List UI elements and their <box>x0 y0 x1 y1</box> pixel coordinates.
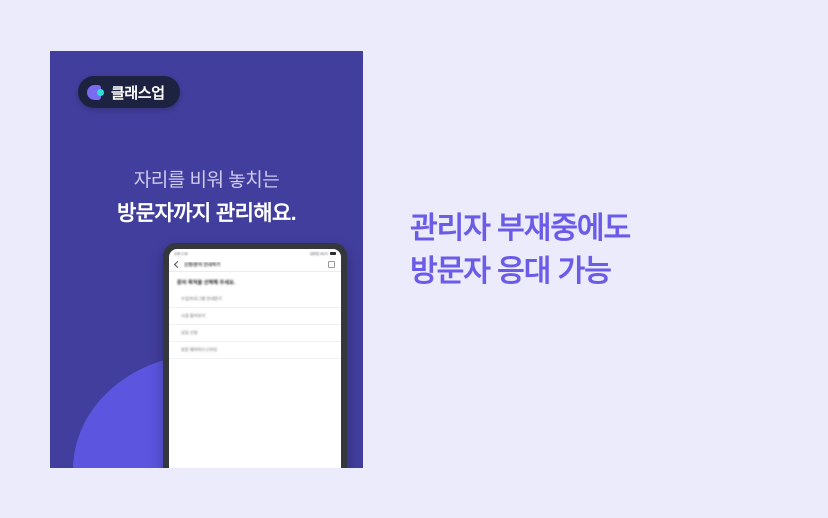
app-bar-title: 신청/문의 안내하기 <box>184 262 324 268</box>
right-copy-line1: 관리자 부재중에도 <box>410 208 790 251</box>
tablet-screen: 오후 2:35 내부망 Wi-Fi 신청/문의 안내하기 문의 목적을 선택해 … <box>169 249 341 468</box>
list-item[interactable]: 수업/프로그램 안내받기 <box>169 291 341 308</box>
right-copy-block: 관리자 부재중에도 방문자 응대 가능 <box>410 208 790 293</box>
brand-logo-pill: 클래스업 <box>78 76 180 108</box>
option-list: 수업/프로그램 안내받기 시설 둘러보기 상담 신청 방문 예약하기 (기타) <box>169 291 341 468</box>
list-item[interactable]: 시설 둘러보기 <box>169 308 341 325</box>
back-chevron-icon[interactable] <box>174 261 181 268</box>
status-bar-network: 내부망 Wi-Fi <box>310 251 328 256</box>
promo-card: 클래스업 자리를 비워 놓치는 방문자까지 관리해요. 오후 2:35 내부망 … <box>50 51 363 468</box>
promo-headline-line2: 방문자까지 관리해요. <box>50 200 363 227</box>
status-bar-time: 오후 2:35 <box>174 251 188 256</box>
list-item[interactable]: 방문 예약하기 (기타) <box>169 342 341 359</box>
app-top-bar: 신청/문의 안내하기 <box>169 258 341 272</box>
more-options-icon[interactable] <box>328 261 335 268</box>
promo-headline-group: 자리를 비워 놓치는 방문자까지 관리해요. <box>50 169 363 227</box>
device-status-bar: 오후 2:35 내부망 Wi-Fi <box>169 249 341 258</box>
right-copy-line2: 방문자 응대 가능 <box>410 251 790 294</box>
banner-stage: 클래스업 자리를 비워 놓치는 방문자까지 관리해요. 오후 2:35 내부망 … <box>0 0 828 518</box>
battery-icon <box>330 252 336 255</box>
promo-headline-line1: 자리를 비워 놓치는 <box>50 169 363 193</box>
brand-name: 클래스업 <box>111 82 165 103</box>
list-item[interactable]: 상담 신청 <box>169 325 341 342</box>
screen-heading: 문의 목적을 선택해 주세요. <box>169 272 341 291</box>
tablet-device-mockup: 오후 2:35 내부망 Wi-Fi 신청/문의 안내하기 문의 목적을 선택해 … <box>163 243 347 468</box>
classup-logo-icon <box>87 85 104 100</box>
